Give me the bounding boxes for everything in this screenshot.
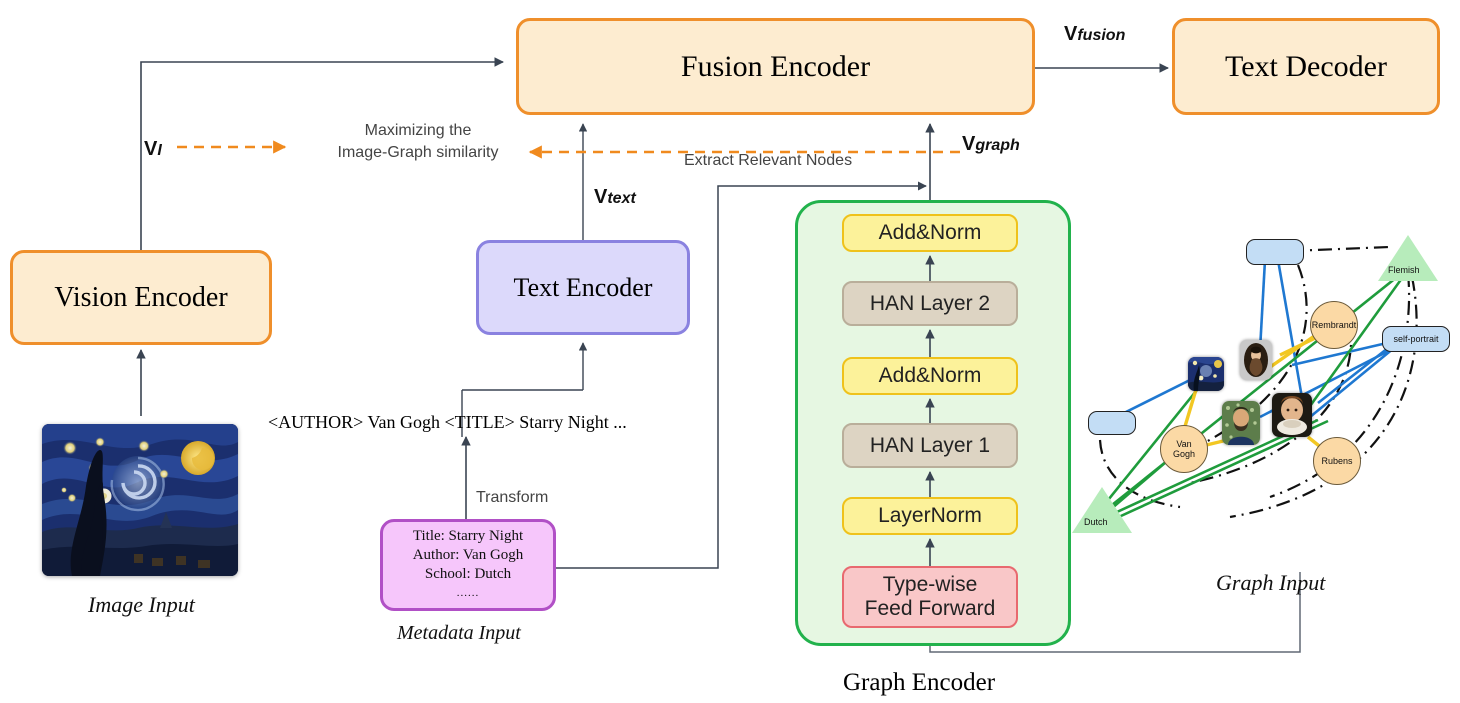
van-gogh-portrait-mini-icon [1222,401,1260,445]
diagram-canvas: Fusion Encoder Text Decoder Vision Encod… [0,0,1460,703]
child-portrait-mini-icon [1272,393,1312,437]
add-norm-top-block[interactable]: Add&Norm [842,214,1018,252]
van-gogh-line2: Gogh [1173,449,1195,459]
rubens-node-label: Rubens [1321,456,1352,466]
image-input-caption: Image Input [88,592,195,618]
v-i-label: VI [144,138,162,161]
metadata-line-3: School: Dutch [425,565,511,584]
v-fusion-label: Vfusion [1064,23,1125,46]
graph-node-topic-blank-a[interactable] [1246,239,1304,265]
maximizing-line-2: Image-Graph similarity [332,142,504,164]
metadata-line-1: Title: Starry Night [413,527,523,546]
text-encoder-block[interactable]: Text Encoder [476,240,690,335]
graph-node-artwork-van-gogh-portrait[interactable] [1222,401,1260,445]
graph-encoder-caption-text: Graph Encoder [843,669,995,696]
extract-relevant-nodes-text: Extract Relevant Nodes [684,152,852,169]
linearized-text: <AUTHOR> Van Gogh <TITLE> Starry Night .… [268,412,627,433]
metadata-input-caption-text: Metadata Input [397,622,521,644]
portrait-woman-mini-icon [1240,340,1272,380]
han-layer-1-block[interactable]: HAN Layer 1 [842,423,1018,468]
fusion-encoder-label: Fusion Encoder [681,50,870,84]
type-wise-ff-line2: Feed Forward [865,597,996,621]
v-graph-base: V [962,133,975,155]
add-norm-mid-block[interactable]: Add&Norm [842,357,1018,395]
text-decoder-block[interactable]: Text Decoder [1172,18,1440,115]
v-graph-sub: graph [975,137,1019,154]
graph-node-topic-self-portrait[interactable]: self-portrait [1382,326,1450,352]
graph-node-topic-blank-b[interactable] [1088,411,1136,435]
transform-text: Transform [476,489,548,506]
maximizing-line-1: Maximizing the [332,120,504,142]
metadata-line-2: Author: Van Gogh [413,546,524,565]
type-wise-feed-forward-block[interactable]: Type-wise Feed Forward [842,566,1018,628]
v-i-base: V [144,138,157,160]
layernorm-block[interactable]: LayerNorm [842,497,1018,535]
maximizing-similarity-note: Maximizing the Image-Graph similarity [332,120,504,164]
starry-night-artwork [42,424,238,576]
v-fusion-sub: fusion [1077,27,1125,44]
v-text-base: V [594,186,607,208]
starry-night-mini-icon [1188,357,1224,391]
graph-node-artist-van-gogh[interactable]: Van Gogh [1160,425,1208,473]
metadata-line-4: ...... [457,584,480,603]
graph-input-visualization[interactable]: Van Gogh Rembrandt Rubens Dutch Flemish … [1060,225,1460,555]
layernorm-label: LayerNorm [878,504,982,528]
graph-encoder-caption: Graph Encoder [843,669,995,697]
graph-node-artwork-child-portrait[interactable] [1272,393,1312,437]
rembrandt-node-label: Rembrandt [1312,320,1357,330]
han-layer-2-block[interactable]: HAN Layer 2 [842,281,1018,326]
v-i-sub: I [157,142,161,159]
transform-note: Transform [476,489,548,507]
linearized-text-value: <AUTHOR> Van Gogh <TITLE> Starry Night .… [268,412,627,432]
van-gogh-line1: Van [1176,439,1191,449]
vision-encoder-block[interactable]: Vision Encoder [10,250,272,345]
image-input-caption-text: Image Input [88,592,195,617]
add-norm-top-label: Add&Norm [879,221,982,245]
dutch-node-label: Dutch [1084,517,1108,527]
v-fusion-base: V [1064,23,1077,45]
han-layer-2-label: HAN Layer 2 [870,292,990,316]
text-encoder-label: Text Encoder [514,273,653,303]
type-wise-ff-line1: Type-wise [883,573,978,597]
graph-node-artwork-starry-night[interactable] [1188,357,1224,391]
self-portrait-node-label: self-portrait [1393,334,1438,344]
graph-input-caption: Graph Input [1216,570,1325,596]
add-norm-mid-label: Add&Norm [879,364,982,388]
metadata-input-block[interactable]: Title: Starry Night Author: Van Gogh Sch… [380,519,556,611]
image-input-thumbnail[interactable] [42,424,238,576]
graph-node-school-dutch[interactable]: Dutch [1072,487,1132,533]
v-text-label: Vtext [594,186,636,209]
graph-node-artist-rembrandt[interactable]: Rembrandt [1310,301,1358,349]
metadata-input-caption: Metadata Input [397,622,521,645]
fusion-encoder-block[interactable]: Fusion Encoder [516,18,1035,115]
graph-node-artwork-portrait-woman[interactable] [1240,340,1272,380]
han-layer-1-label: HAN Layer 1 [870,434,990,458]
van-gogh-node-label: Van Gogh [1173,439,1195,459]
vision-encoder-label: Vision Encoder [54,282,227,314]
graph-node-school-flemish[interactable]: Flemish [1378,235,1438,281]
text-decoder-label: Text Decoder [1225,50,1387,84]
graph-node-artist-rubens[interactable]: Rubens [1313,437,1361,485]
graph-input-caption-text: Graph Input [1216,570,1325,595]
v-graph-label: Vgraph [962,133,1020,156]
v-text-sub: text [607,190,635,207]
flemish-node-label: Flemish [1388,265,1420,275]
extract-relevant-nodes-note: Extract Relevant Nodes [684,152,852,170]
